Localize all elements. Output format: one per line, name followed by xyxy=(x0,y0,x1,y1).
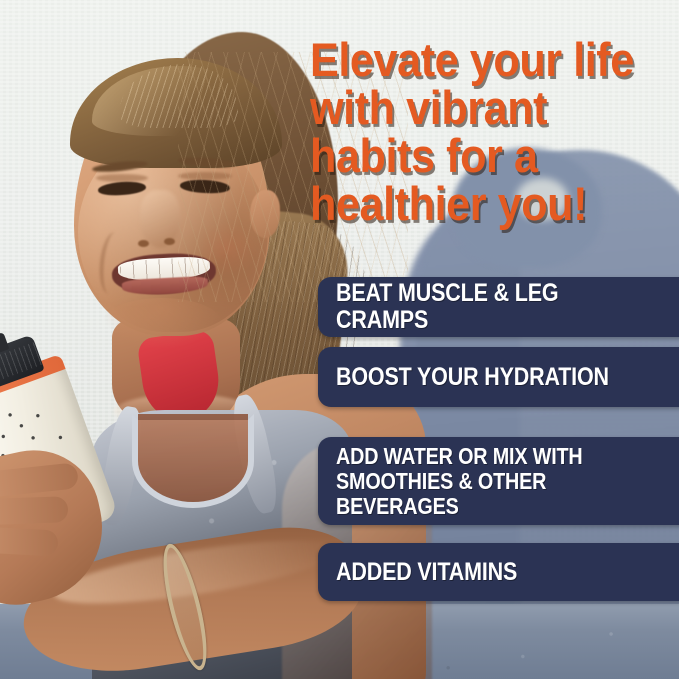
finger-ring xyxy=(0,526,59,557)
tank-neckline xyxy=(132,414,254,508)
feature-box-beat-muscle-leg-cramps[interactable]: BEAT MUSCLE & LEG CRAMPS xyxy=(318,277,679,337)
eyelid-left xyxy=(96,174,148,182)
nostril-right xyxy=(164,238,175,245)
promotional-poster: Elevate your life with vibrant habits fo… xyxy=(0,0,679,679)
headline: Elevate your life with vibrant habits fo… xyxy=(310,36,650,228)
feature-label: BEAT MUSCLE & LEG CRAMPS xyxy=(336,280,628,334)
feature-box-boost-your-hydration[interactable]: BOOST YOUR HYDRATION xyxy=(318,347,679,407)
eyelid-right xyxy=(178,172,232,180)
feature-label: ADDED VITAMINS xyxy=(336,559,517,586)
feature-box-added-vitamins[interactable]: ADDED VITAMINS xyxy=(318,543,679,601)
nostril-left xyxy=(138,240,149,247)
chin-shading xyxy=(102,298,222,348)
feature-box-add-water-or-mix[interactable]: ADD WATER OR MIX WITH SMOOTHIES & OTHER … xyxy=(318,437,679,525)
ear xyxy=(250,190,280,238)
feature-label: BOOST YOUR HYDRATION xyxy=(336,364,609,391)
finger-middle xyxy=(0,496,68,526)
feature-label: ADD WATER OR MIX WITH SMOOTHIES & OTHER … xyxy=(336,444,628,519)
